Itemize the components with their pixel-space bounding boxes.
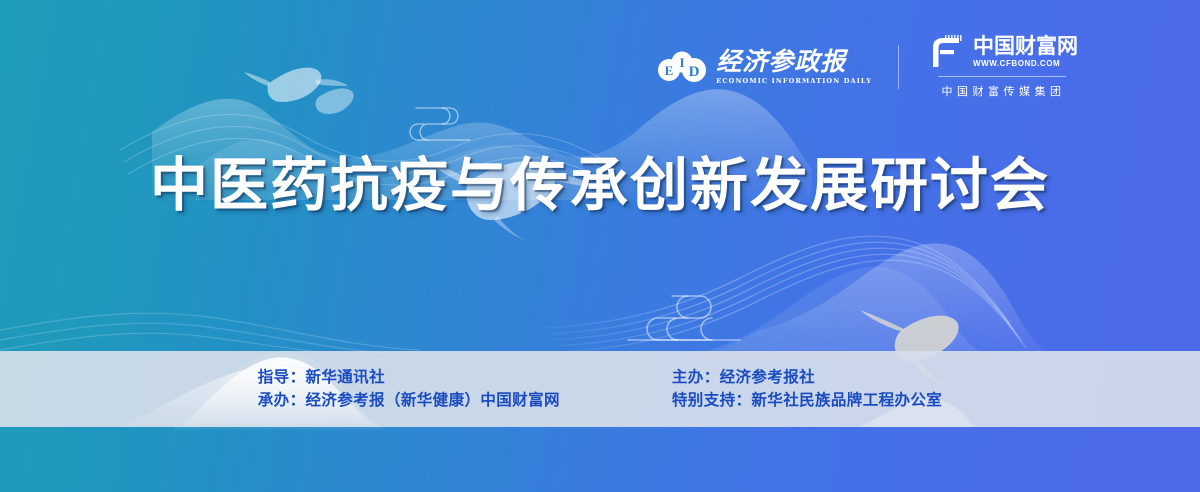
- cfbond-top-row: 中国财富网 WWW.CFBOND.COM: [925, 34, 1078, 70]
- event-banner: E I D 经济参政报 ECONOMIC INFORMATION DAILY: [0, 0, 1200, 492]
- cfbond-wordmark: 中国财富网 WWW.CFBOND.COM: [973, 36, 1078, 68]
- logo-row: E I D 经济参政报 ECONOMIC INFORMATION DAILY: [655, 34, 1078, 99]
- credit-guidance: 指导：新华通讯社: [258, 370, 560, 386]
- credit-host: 主办：经济参考报社: [672, 370, 942, 386]
- credit-organizer: 承办：经济参考报（新华健康）中国财富网: [258, 393, 560, 409]
- svg-text:D: D: [689, 64, 700, 80]
- cfbond-mark-icon: [925, 34, 965, 70]
- credits-column-left: 指导：新华通讯社 承办：经济参考报（新华健康）中国财富网: [258, 370, 560, 408]
- credits-content: 指导：新华通讯社 承办：经济参考报（新华健康）中国财富网 主办：经济参考报社 特…: [0, 351, 1200, 427]
- banner-title: 中医药抗疫与传承创新发展研讨会: [0, 154, 1200, 219]
- cloud-motif-large: [628, 296, 740, 340]
- cfbond-url: WWW.CFBOND.COM: [973, 60, 1060, 68]
- eid-wordmark: 经济参政报 ECONOMIC INFORMATION DAILY: [716, 49, 872, 85]
- credits-bar: 指导：新华通讯社 承办：经济参考报（新华健康）中国财富网 主办：经济参考报社 特…: [0, 351, 1200, 427]
- svg-text:E: E: [665, 63, 674, 78]
- credit-special-support: 特别支持：新华社民族品牌工程办公室: [672, 393, 942, 409]
- eid-monogram-icon: E I D: [655, 50, 709, 84]
- cfbond-rule: [938, 76, 1066, 77]
- logo-economic-information-daily: E I D 经济参政报 ECONOMIC INFORMATION DAILY: [655, 49, 872, 85]
- credits-column-right: 主办：经济参考报社 特别支持：新华社民族品牌工程办公室: [672, 370, 942, 408]
- logo-divider: [898, 45, 899, 89]
- eid-name-cn: 经济参政报: [716, 49, 846, 74]
- svg-text:I: I: [680, 55, 685, 70]
- cfbond-name-cn: 中国财富网: [973, 36, 1078, 57]
- logo-cfbond: 中国财富网 WWW.CFBOND.COM 中国财富传媒集团: [925, 34, 1078, 99]
- crane-icon-upper-left-2: [316, 88, 354, 114]
- eid-name-en: ECONOMIC INFORMATION DAILY: [716, 78, 872, 85]
- cfbond-group-name: 中国财富传媒集团: [938, 83, 1066, 99]
